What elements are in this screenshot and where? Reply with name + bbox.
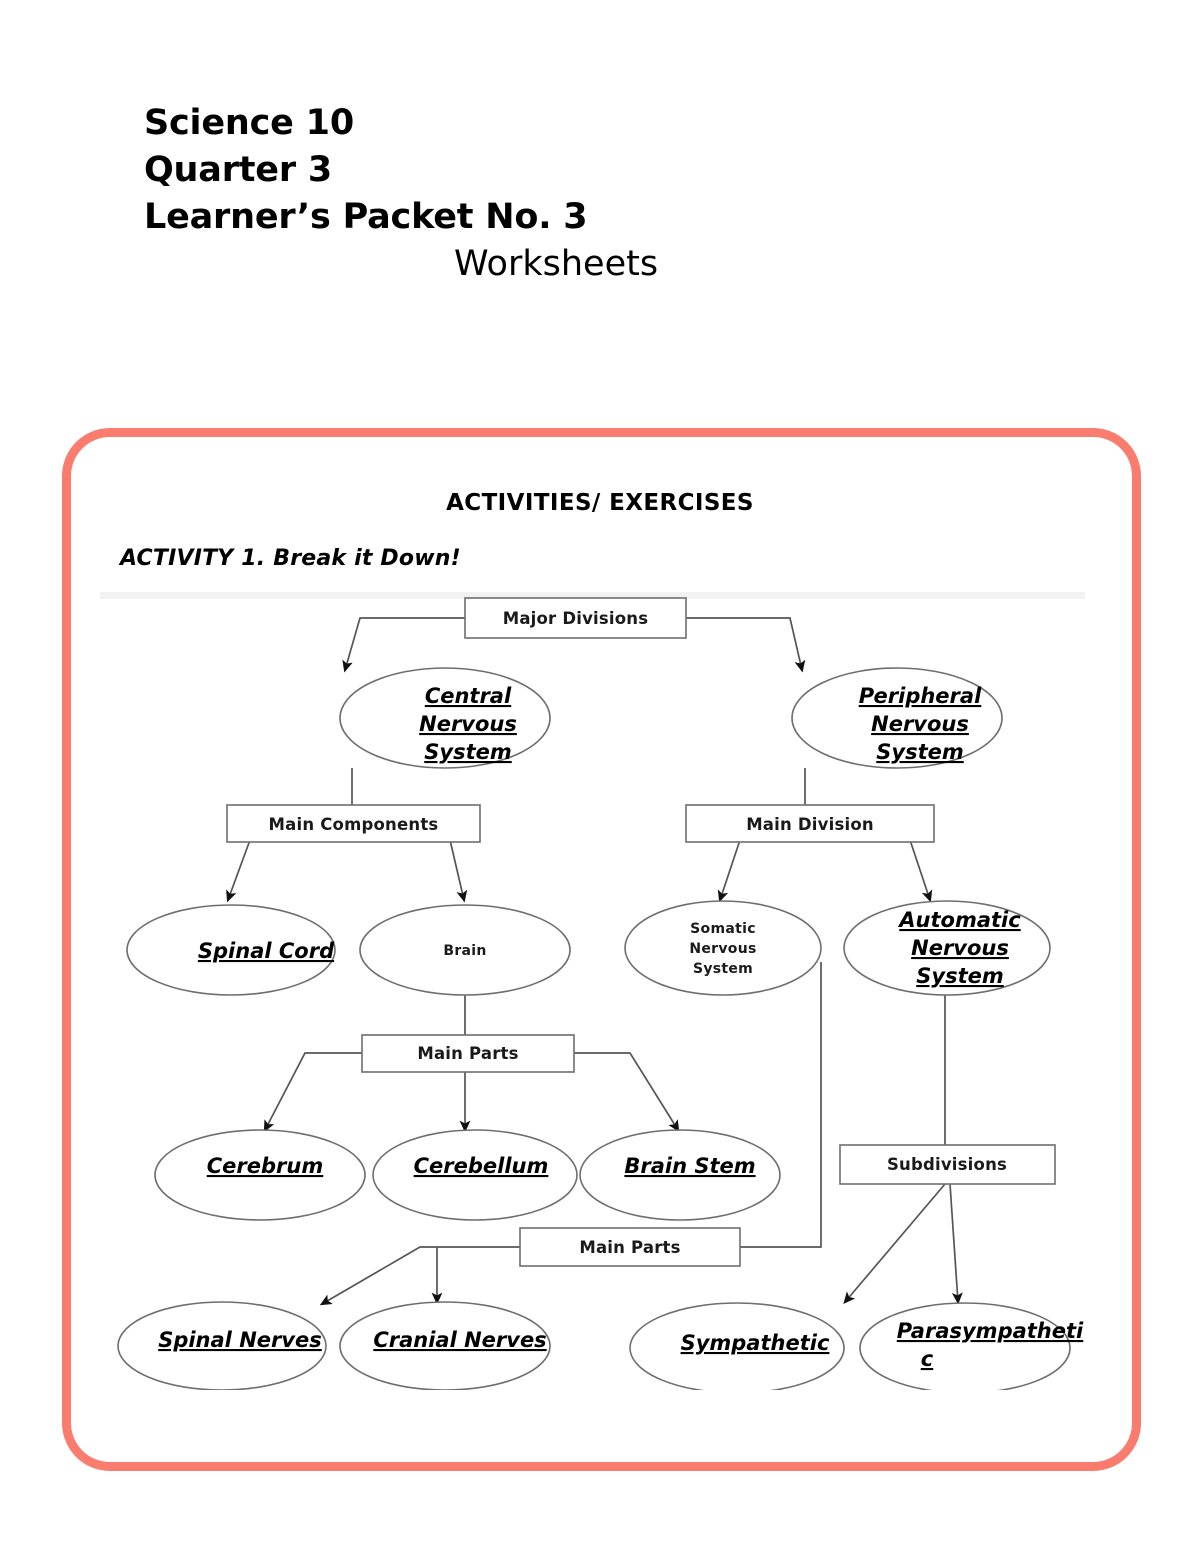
node-spinal-nerves: Spinal Nerves — [118, 1302, 326, 1390]
edge-main-components-to-brain — [450, 840, 464, 900]
node-spinal-nerves-label: Spinal Nerves — [158, 1328, 322, 1352]
node-major-divisions-label: Major Divisions — [503, 609, 649, 628]
node-major-divisions: Major Divisions — [465, 598, 686, 638]
node-cranial-nerves: Cranial Nerves — [340, 1302, 550, 1390]
node-main-division: Main Division — [686, 805, 934, 842]
page-title-block: Science 10 Quarter 3 Learner’s Packet No… — [144, 100, 1064, 288]
node-somatic-line-1: Somatic — [690, 921, 756, 937]
page-title-line-2: Quarter 3 — [144, 147, 1064, 194]
edge-subdivisions-to-parasympathetic — [950, 1184, 958, 1302]
node-brain-stem: Brain Stem — [580, 1130, 780, 1220]
node-central-nervous-system: Central Nervous System — [340, 668, 550, 768]
node-subdivisions: Subdivisions — [840, 1145, 1055, 1184]
node-automatic-line-1: Automatic — [897, 908, 1021, 932]
node-cerebrum: Cerebrum — [155, 1130, 365, 1220]
node-spinal-cord-label: Spinal Cord — [198, 939, 335, 963]
node-somatic-line-3: System — [693, 961, 753, 977]
activities-exercises-heading: ACTIVITIES/ EXERCISES — [0, 490, 1200, 516]
activity-1-title: ACTIVITY 1. Break it Down! — [120, 546, 461, 571]
node-sympathetic: Sympathetic — [630, 1303, 844, 1390]
node-main-components: Main Components — [227, 805, 480, 842]
node-cns-line-2: Nervous — [419, 712, 517, 736]
node-main-parts-brain: Main Parts — [362, 1035, 574, 1072]
node-main-parts-somatic-label: Main Parts — [579, 1238, 680, 1257]
node-subdivisions-label: Subdivisions — [887, 1155, 1007, 1174]
edge-major-to-cns — [345, 618, 465, 670]
node-parasympathetic-oval — [860, 1303, 1070, 1390]
node-pns-line-3: System — [876, 740, 963, 764]
page-subtitle: Worksheets — [144, 241, 1064, 288]
node-parasympathetic: Parasympatheti c — [860, 1303, 1084, 1390]
edge-main-components-to-spinal-cord — [228, 840, 250, 900]
node-pns-line-2: Nervous — [871, 712, 969, 736]
edge-subdivisions-to-sympathetic — [845, 1184, 945, 1302]
node-sympathetic-label: Sympathetic — [681, 1331, 830, 1355]
edge-main-division-to-automatic — [910, 840, 930, 900]
node-brain: Brain — [360, 905, 570, 995]
node-peripheral-nervous-system: Peripheral Nervous System — [792, 668, 1002, 768]
node-cerebellum: Cerebellum — [373, 1130, 577, 1220]
node-cranial-nerves-label: Cranial Nerves — [373, 1328, 546, 1352]
node-automatic-nervous-system: Automatic Nervous System — [844, 901, 1050, 995]
edge-major-to-pns — [686, 618, 802, 670]
node-main-parts-somatic: Main Parts — [520, 1228, 740, 1266]
node-brain-label: Brain — [443, 943, 486, 959]
node-somatic-nervous-system: Somatic Nervous System — [625, 901, 821, 995]
node-brain-stem-label: Brain Stem — [624, 1154, 755, 1178]
node-parasympathetic-line-2: c — [921, 1347, 934, 1371]
page-title-line-1: Science 10 — [144, 100, 1064, 147]
edge-lower-main-parts-to-spinal-nerves — [322, 1247, 520, 1304]
node-automatic-line-3: System — [916, 964, 1003, 988]
edge-main-parts-to-cerebrum — [265, 1053, 362, 1130]
edge-main-parts-to-brain-stem — [574, 1053, 678, 1130]
node-somatic-line-2: Nervous — [689, 941, 756, 957]
node-parasympathetic-line-1: Parasympatheti — [897, 1319, 1084, 1343]
edge-main-division-to-somatic — [720, 840, 740, 900]
nervous-system-concept-map: Major Divisions Central Nervous System P… — [100, 590, 1085, 1390]
node-cns-line-3: System — [424, 740, 511, 764]
page-title-line-3: Learner’s Packet No. 3 — [144, 194, 1064, 241]
node-main-division-label: Main Division — [746, 815, 874, 834]
node-cerebrum-label: Cerebrum — [207, 1154, 323, 1178]
node-cns-line-1: Central — [425, 684, 512, 708]
node-spinal-cord: Spinal Cord — [127, 905, 335, 995]
node-automatic-line-2: Nervous — [911, 936, 1009, 960]
node-pns-line-1: Peripheral — [859, 684, 982, 708]
node-cerebellum-label: Cerebellum — [414, 1154, 549, 1178]
node-main-components-label: Main Components — [269, 815, 439, 834]
node-main-parts-brain-label: Main Parts — [417, 1044, 518, 1063]
